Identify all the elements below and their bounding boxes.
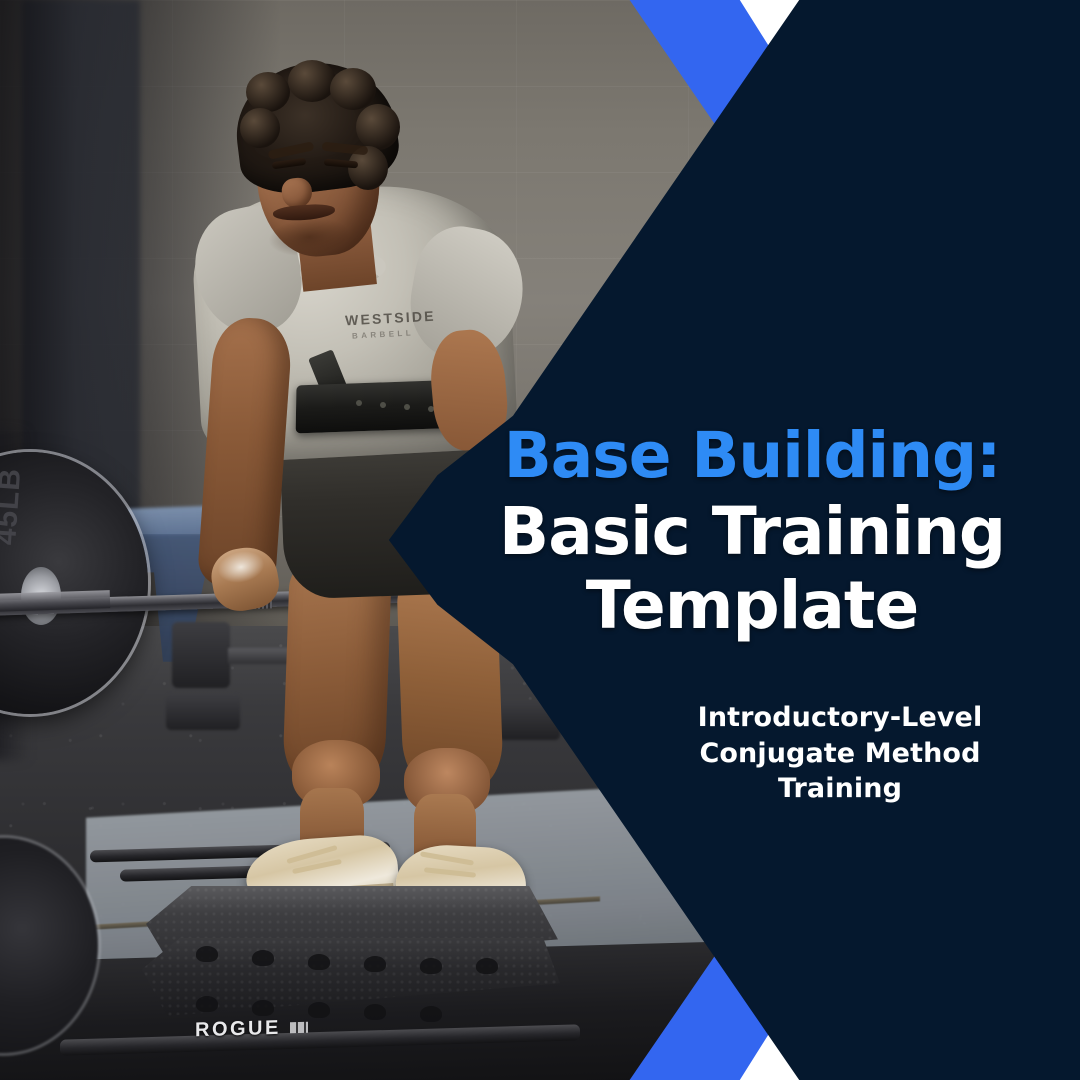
subheadline-line-3: Training xyxy=(640,771,1040,807)
hair-curl xyxy=(356,104,400,150)
mat-notch xyxy=(420,958,442,974)
mat-notch xyxy=(476,958,498,974)
headline-line-2: Basic Training xyxy=(452,499,1052,565)
hair-curl xyxy=(288,60,336,102)
mat-notch xyxy=(364,956,386,972)
headline-line-1: Base Building: xyxy=(452,424,1052,487)
poster-canvas: ROGUE ROGUE 45LB xyxy=(0,0,1080,1080)
mat-notch xyxy=(308,954,330,970)
belt-hole xyxy=(356,400,362,406)
mat-notch xyxy=(252,950,274,966)
headline-line-3: Template xyxy=(452,573,1052,639)
belt-hole xyxy=(380,402,386,408)
subheadline-block: Introductory-Level Conjugate Method Trai… xyxy=(640,700,1040,807)
mat-notch xyxy=(364,1004,386,1020)
mat-notch xyxy=(196,946,218,962)
mat-notch xyxy=(420,1006,442,1022)
mat-notch xyxy=(252,1000,274,1016)
hair-curl xyxy=(240,108,280,148)
mat-notch xyxy=(308,1002,330,1018)
belt-hole xyxy=(404,404,410,410)
subheadline-line-1: Introductory-Level xyxy=(640,700,1040,736)
subheadline-line-2: Conjugate Method xyxy=(640,736,1040,772)
mat-notch xyxy=(196,996,218,1012)
headline-block: Base Building: Basic Training Template xyxy=(452,424,1052,639)
hair-curl xyxy=(246,72,290,112)
hair-curl xyxy=(330,68,376,110)
